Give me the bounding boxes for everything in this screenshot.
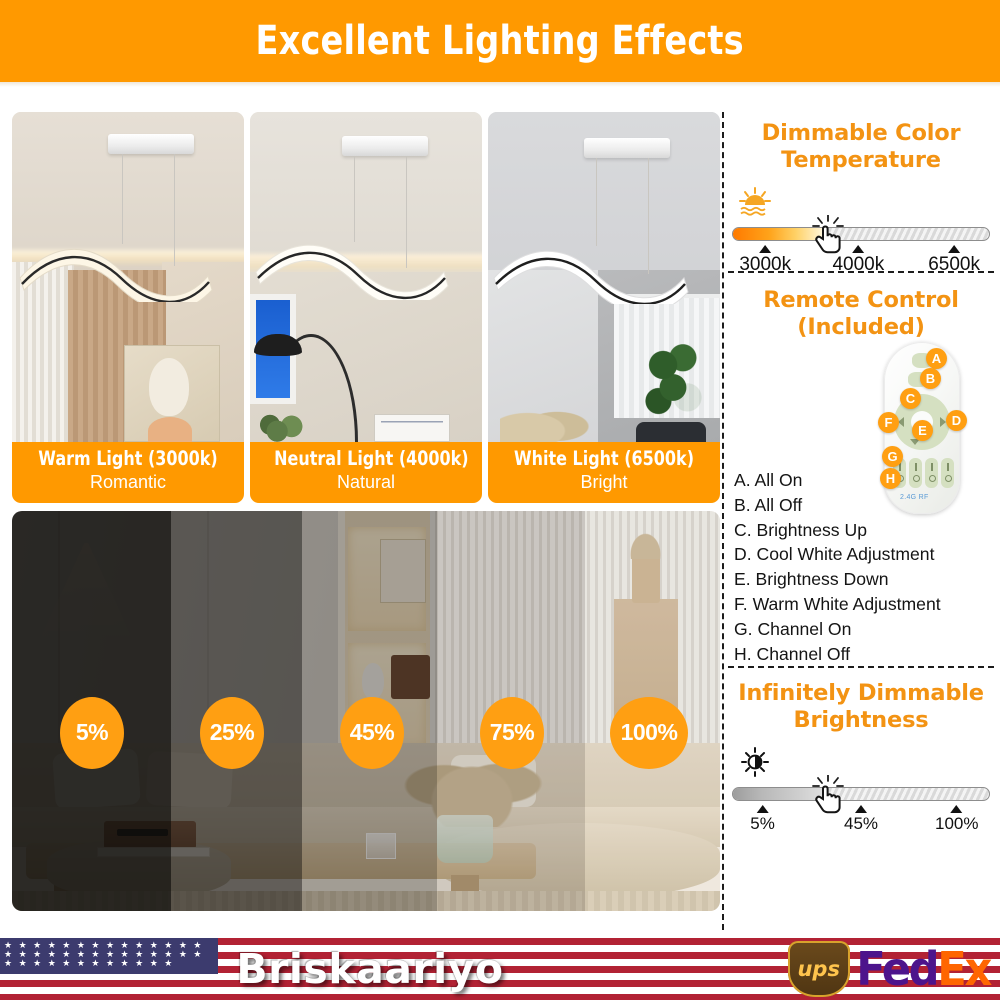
fedex-logo: FedEx: [856, 942, 990, 996]
card-subtitle: Bright: [492, 471, 716, 494]
brightness-badge-75: 75%: [480, 697, 544, 769]
remote-badge-g: G: [882, 446, 903, 467]
legend-item: F. Warm White Adjustment: [734, 592, 941, 617]
card-label-neutral: Neutral Light (4000k) Natural: [250, 442, 482, 503]
remote-badge-f: F: [878, 412, 899, 433]
tick-4000k: 4000k: [832, 245, 884, 276]
dimming-comparison-photo: 5% 25% 45% 75% 100%: [12, 511, 720, 911]
pendant-lamp-warm: [12, 112, 244, 442]
ups-logo: ups: [788, 941, 850, 997]
color-temperature-cards: Warm Light (3000k) Romantic: [12, 112, 720, 503]
brightness-badge-25: 25%: [200, 697, 264, 769]
title-line-2: (Included): [728, 314, 994, 341]
card-title: Neutral Light (4000k): [274, 448, 458, 470]
tick-5: 5%: [750, 805, 775, 834]
page-header: Excellent Lighting Effects: [0, 0, 1000, 82]
title-line-1: Remote Control: [728, 287, 994, 314]
card-warm-light[interactable]: Warm Light (3000k) Romantic: [12, 112, 244, 503]
page-footer: ★ ★ ★ ★ ★ ★ ★ ★ ★ ★ ★ ★ ★ ★ ★ ★ ★ ★ ★ ★ …: [0, 938, 1000, 1000]
brightness-title: Infinitely Dimmable Brightness: [728, 680, 994, 735]
color-temperature-track[interactable]: [732, 227, 990, 241]
tick-100: 100%: [935, 805, 978, 834]
title-line-2: Brightness: [728, 707, 994, 734]
color-temperature-slider[interactable]: 3000k 4000k 6500k: [728, 187, 994, 271]
card-photo-warm-room: [12, 112, 244, 442]
title-line-2: Temperature: [728, 147, 994, 174]
card-subtitle: Natural: [254, 471, 478, 494]
legend-item: B. All Off: [734, 493, 941, 518]
remote-badge-d: D: [946, 410, 967, 431]
title-line-1: Dimmable Color: [728, 120, 994, 147]
legend-item: E. Brightness Down: [734, 567, 941, 592]
card-neutral-light[interactable]: Neutral Light (4000k) Natural: [250, 112, 482, 503]
card-label-warm: Warm Light (3000k) Romantic: [12, 442, 244, 503]
card-photo-neutral-room: [250, 112, 482, 442]
vertical-divider: [722, 112, 724, 930]
color-temperature-ticks: 3000k 4000k 6500k: [728, 245, 994, 271]
left-column: Warm Light (3000k) Romantic: [12, 112, 720, 911]
right-column: Dimmable Color Temperature: [728, 120, 994, 831]
legend-item: A. All On: [734, 468, 941, 493]
pendant-lamp-neutral: [250, 112, 482, 442]
shipping-logos: ups FedEx: [788, 940, 994, 998]
remote-badge-b: B: [920, 368, 941, 389]
color-temperature-title: Dimmable Color Temperature: [728, 120, 994, 175]
section-brightness: Infinitely Dimmable Brightness: [728, 668, 994, 831]
remote-badge-c: C: [900, 388, 921, 409]
remote-badge-e: E: [912, 420, 933, 441]
brightness-badge-100: 100%: [610, 697, 688, 769]
brand-name: Briskaariyo: [0, 938, 740, 1000]
brightness-badge-45: 45%: [340, 697, 404, 769]
brightness-track[interactable]: [732, 787, 990, 801]
page-title: Excellent Lighting Effects: [256, 18, 744, 64]
remote-legend: A. All On B. All Off C. Brightness Up D.…: [734, 468, 941, 667]
legend-item: C. Brightness Up: [734, 518, 941, 543]
brightness-badge-5: 5%: [60, 697, 124, 769]
card-title: Warm Light (3000k): [36, 448, 220, 470]
brightness-slider[interactable]: 5% 45% 100%: [728, 747, 994, 831]
tick-45: 45%: [844, 805, 878, 834]
card-subtitle: Romantic: [16, 471, 240, 494]
remote-channel-4[interactable]: [941, 458, 954, 488]
card-title: White Light (6500k): [512, 448, 696, 470]
brightness-half-icon: [738, 747, 772, 777]
card-white-light[interactable]: White Light (6500k) Bright: [488, 112, 720, 503]
legend-item: G. Channel On: [734, 617, 941, 642]
card-photo-white-room: [488, 112, 720, 442]
tick-6500k: 6500k: [928, 245, 980, 276]
remote-control-title: Remote Control (Included): [728, 287, 994, 342]
legend-item: H. Channel Off: [734, 642, 941, 667]
legend-item: D. Cool White Adjustment: [734, 542, 941, 567]
pendant-lamp-white: [488, 112, 720, 442]
sunrise-icon: [738, 187, 772, 217]
remote-control-area: 2.4G RF A B C D E F G H A. All On B. All…: [728, 346, 994, 666]
section-remote-control: Remote Control (Included) 2.4G RF A B C: [728, 273, 994, 666]
remote-badge-a: A: [926, 348, 947, 369]
tick-3000k: 3000k: [739, 245, 791, 276]
header-shadow: [0, 82, 1000, 87]
card-label-white: White Light (6500k) Bright: [488, 442, 720, 503]
section-color-temperature: Dimmable Color Temperature: [728, 120, 994, 271]
title-line-1: Infinitely Dimmable: [728, 680, 994, 707]
brightness-ticks: 5% 45% 100%: [728, 805, 994, 831]
